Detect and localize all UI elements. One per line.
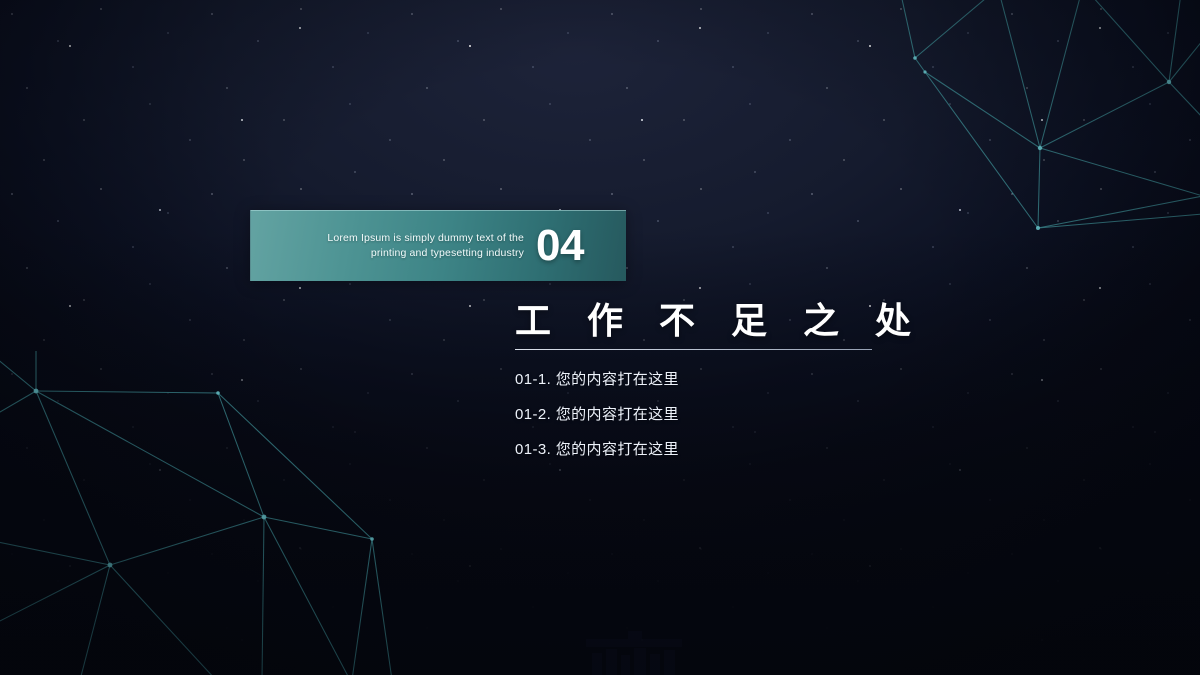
list-item: 01-3. 您的内容打在这里 (515, 442, 1115, 457)
banner-lorem-text: Lorem Ipsum is simply dummy text of the … (327, 231, 524, 261)
list-item: 01-1. 您的内容打在这里 (515, 372, 1115, 387)
section-number-banner: Lorem Ipsum is simply dummy text of the … (250, 210, 626, 281)
slide-content: 工 作 不 足 之 处 01-1. 您的内容打在这里 01-2. 您的内容打在这… (515, 300, 1115, 457)
list-item: 01-2. 您的内容打在这里 (515, 407, 1115, 422)
banner-lorem-line-2: printing and typesetting industry (371, 247, 524, 259)
bullet-list: 01-1. 您的内容打在这里 01-2. 您的内容打在这里 01-3. 您的内容… (515, 372, 1115, 457)
section-number: 04 (536, 224, 584, 268)
city-skyline-silhouette (0, 605, 1200, 675)
presentation-slide: Lorem Ipsum is simply dummy text of the … (0, 0, 1200, 675)
polygon-network-top-right (870, 0, 1200, 240)
title-underline-rule (515, 349, 872, 350)
banner-lorem-line-1: Lorem Ipsum is simply dummy text of the (327, 232, 524, 244)
page-title: 工 作 不 足 之 处 (515, 300, 1115, 341)
